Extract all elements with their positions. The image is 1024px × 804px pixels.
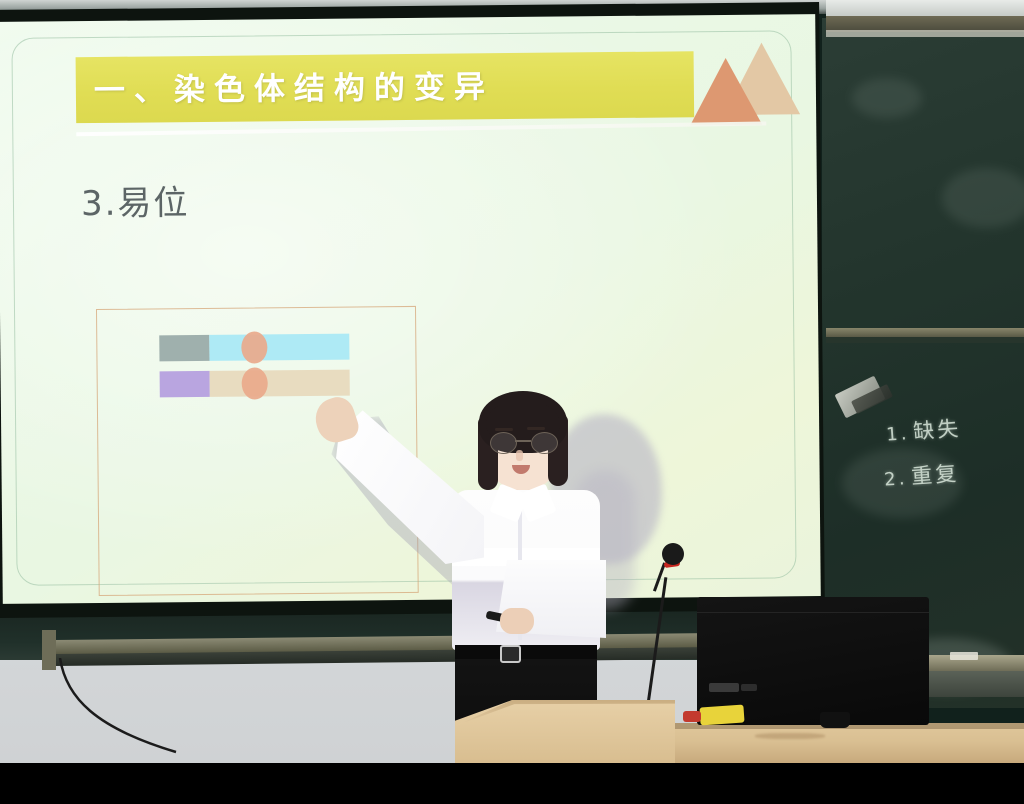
belt-buckle [500,645,521,663]
chalk-note-1-text: 缺失 [912,416,962,443]
chromosome-bottom-left-segment [160,371,210,397]
chromosome-top [159,334,349,362]
chalk-note-2: 2.重复 [883,457,960,492]
blackboard-rail [826,328,1024,337]
glasses-lens-right [531,432,558,454]
eyebrow-right [527,427,545,430]
microphone-head-icon[interactable] [662,543,684,565]
blackboard-rail-shadow [826,337,1024,343]
chalk-stick[interactable] [950,652,978,660]
chromosome-bottom-body [210,370,350,397]
chromosome-bottom [160,370,350,398]
screen-rail-end-cap [42,630,56,670]
nose [516,450,523,461]
glasses-icon [490,432,556,452]
classroom-scene: 1.缺失 2.重复 一、染色体结构的变异 3.易位 [0,0,1024,804]
hanging-cable [56,658,256,754]
belt [455,645,597,659]
chromosome-bottom-centromere [242,367,268,399]
chromosome-top-centromere [241,331,267,363]
monitor-port [709,683,739,692]
chalk-note-1-number: 1. [886,423,911,446]
chalk-note-2-number: 2. [884,468,909,491]
image-bottom-letterbox [0,763,1024,804]
glasses-lens-left [490,432,517,454]
slide-title: 一、染色体结构的变异 [94,59,694,117]
eyebrow-left [495,428,513,431]
chromosome-top-left-segment [159,335,209,361]
chalk-note-1: 1.缺失 [885,412,962,447]
slide-subheading: 3.易位 [81,175,190,225]
chromosome-top-body [209,334,349,361]
glasses-bridge [515,440,531,442]
lowered-hand [500,608,534,634]
blackboard-top-trim [826,30,1024,37]
chalk-note-2-text: 重复 [910,461,960,488]
decor-triangle-front-icon [690,58,763,126]
yellow-object[interactable] [699,704,744,725]
monitor-port-secondary [741,684,757,691]
podium [455,700,675,765]
monitor-stand [820,712,850,728]
monitor-seam [697,612,929,613]
red-object[interactable] [683,711,701,722]
